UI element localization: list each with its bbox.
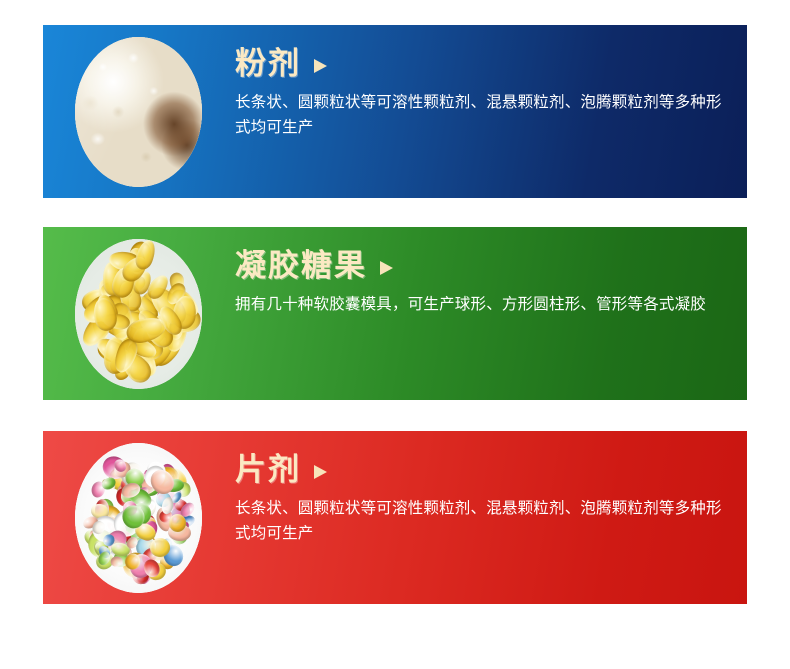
softgel-capsules-photo: [75, 239, 202, 389]
gel-title-row[interactable]: 凝胶糖果: [235, 249, 729, 283]
gel-text-column: 凝胶糖果 拥有几十种软胶囊模具，可生产球形、方形圆柱形、管形等各式凝胶: [235, 249, 729, 317]
gel-description: 拥有几十种软胶囊模具，可生产球形、方形圆柱形、管形等各式凝胶: [235, 292, 729, 317]
product-card-tablet[interactable]: 片剂 长条状、圆颗粒状等可溶性颗粒剂、混悬颗粒剂、泡腾颗粒剂等多种形式均可生产: [43, 431, 747, 604]
tablets-photo-circle: [75, 443, 202, 593]
tablet-title: 片剂: [235, 453, 301, 487]
product-card-powder[interactable]: 粉剂 长条状、圆颗粒状等可溶性颗粒剂、混悬颗粒剂、泡腾颗粒剂等多种形式均可生产: [43, 25, 747, 198]
powder-description: 长条状、圆颗粒状等可溶性颗粒剂、混悬颗粒剂、泡腾颗粒剂等多种形式均可生产: [235, 90, 729, 140]
gel-title: 凝胶糖果: [235, 249, 367, 283]
product-card-gel[interactable]: 凝胶糖果 拥有几十种软胶囊模具，可生产球形、方形圆柱形、管形等各式凝胶: [43, 227, 747, 400]
product-category-banner-list: 粉剂 长条状、圆颗粒状等可溶性颗粒剂、混悬颗粒剂、泡腾颗粒剂等多种形式均可生产 …: [0, 0, 790, 669]
arrow-right-icon[interactable]: [314, 465, 327, 479]
arrow-right-icon[interactable]: [314, 59, 327, 73]
powder-photo-circle: [75, 37, 202, 187]
powder-title-row[interactable]: 粉剂: [235, 47, 729, 81]
softgel-photo-circle: [75, 239, 202, 389]
arrow-right-icon[interactable]: [380, 261, 393, 275]
tablet-text-column: 片剂 长条状、圆颗粒状等可溶性颗粒剂、混悬颗粒剂、泡腾颗粒剂等多种形式均可生产: [235, 453, 729, 546]
powder-title: 粉剂: [235, 47, 301, 81]
tablet-title-row[interactable]: 片剂: [235, 453, 729, 487]
powder-photo: [75, 37, 202, 187]
colorful-tablets-photo: [75, 443, 202, 593]
tablet-description: 长条状、圆颗粒状等可溶性颗粒剂、混悬颗粒剂、泡腾颗粒剂等多种形式均可生产: [235, 496, 729, 546]
powder-text-column: 粉剂 长条状、圆颗粒状等可溶性颗粒剂、混悬颗粒剂、泡腾颗粒剂等多种形式均可生产: [235, 47, 729, 140]
